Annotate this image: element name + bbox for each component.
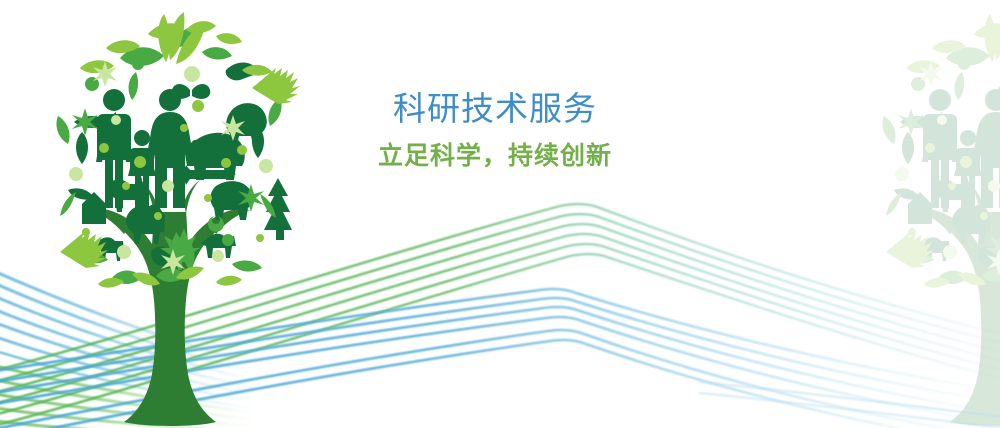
page-title: 科研技术服务: [330, 92, 660, 125]
tree-left-main: [0, 0, 1000, 428]
headline-block: 科研技术服务 立足科学，持续创新: [330, 92, 660, 168]
page-tagline: 立足科学，持续创新: [330, 143, 660, 168]
banner-root: 科研技术服务 立足科学，持续创新: [0, 0, 1000, 428]
